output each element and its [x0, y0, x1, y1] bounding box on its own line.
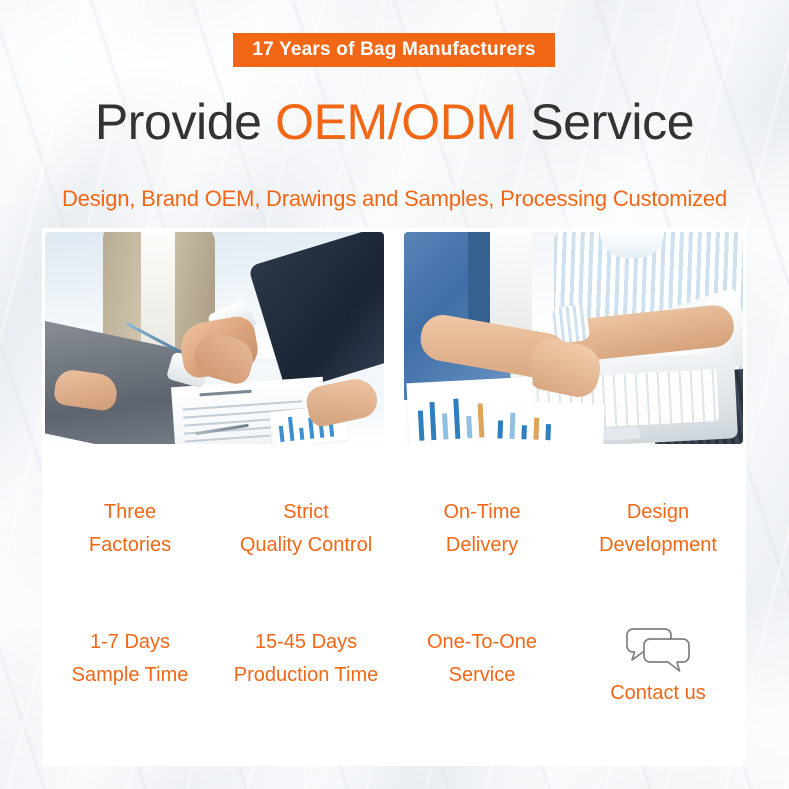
photo-row	[45, 232, 743, 444]
feature-one-to-one-service: One-To-One Service	[394, 626, 570, 706]
feature-three-factories: Three Factories	[42, 496, 218, 562]
photo-chart-bar	[509, 413, 515, 439]
feature-line-1: 1-7 Days	[42, 626, 218, 659]
feature-design-development: Design Development	[570, 496, 746, 562]
photo-doc-line	[185, 435, 271, 443]
photo-chart-bar	[288, 417, 294, 441]
feature-line-1: One-To-One	[394, 626, 570, 659]
photo-chart-bar	[545, 424, 551, 440]
laptop-collaboration-photo	[404, 232, 743, 444]
feature-line-1: 15-45 Days	[218, 626, 394, 659]
feature-line-2: Development	[570, 529, 746, 562]
page-title: Provide OEM/ODM Service	[0, 93, 789, 151]
page-subtitle: Design, Brand OEM, Drawings and Samples,…	[0, 186, 789, 212]
contact-us-link[interactable]: Contact us	[570, 680, 746, 706]
feature-row-two: 1-7 Days Sample Time 15-45 Days Producti…	[42, 626, 746, 706]
photo-chart-bar	[497, 420, 503, 438]
headline-prefix: Provide	[95, 94, 275, 150]
photo-chart-printout	[485, 400, 604, 444]
feature-line-1: Three	[42, 496, 218, 529]
feature-row-one: Three Factories Strict Quality Control O…	[42, 496, 746, 562]
feature-sample-time: 1-7 Days Sample Time	[42, 626, 218, 706]
feature-line-2: Sample Time	[42, 659, 218, 692]
promo-banner: 17 Years of Bag Manufacturers Provide OE…	[0, 0, 789, 789]
feature-on-time-delivery: On-Time Delivery	[394, 496, 570, 562]
photo-chart-bar	[466, 416, 472, 438]
chat-bubbles-icon	[621, 626, 695, 674]
content-panel: Three Factories Strict Quality Control O…	[42, 228, 746, 766]
feature-grid: Three Factories Strict Quality Control O…	[42, 474, 746, 764]
feature-line-2: Delivery	[394, 529, 570, 562]
photo-chart-bar	[442, 413, 448, 439]
business-handshake-photo	[45, 232, 384, 444]
feature-line-1: Strict	[218, 496, 394, 529]
feature-line-1: Design	[570, 496, 746, 529]
feature-quality-control: Strict Quality Control	[218, 496, 394, 562]
years-badge: 17 Years of Bag Manufacturers	[233, 33, 555, 67]
photo-chart-bar	[521, 425, 526, 439]
photo-chart-bar	[418, 411, 425, 441]
feature-line-1: On-Time	[394, 496, 570, 529]
headline-suffix: Service	[517, 94, 694, 150]
photo-chart-bar	[429, 402, 436, 440]
feature-line-2: Production Time	[218, 659, 394, 692]
feature-line-2: Service	[394, 659, 570, 692]
feature-line-2: Factories	[42, 529, 218, 562]
feature-production-time: 15-45 Days Production Time	[218, 626, 394, 706]
banner-header: 17 Years of Bag Manufacturers Provide OE…	[0, 0, 789, 228]
photo-chart-bar	[299, 428, 304, 440]
photo-contract-heading	[200, 390, 252, 397]
photo-chart-bar	[279, 426, 285, 442]
headline-accent: OEM/ODM	[275, 94, 517, 150]
feature-line-2: Quality Control	[218, 529, 394, 562]
photo-chart-bar	[453, 399, 460, 439]
photo-chart-bar	[478, 403, 485, 437]
photo-chart-bar	[533, 418, 539, 440]
contact-us-block[interactable]: Contact us	[570, 626, 746, 706]
